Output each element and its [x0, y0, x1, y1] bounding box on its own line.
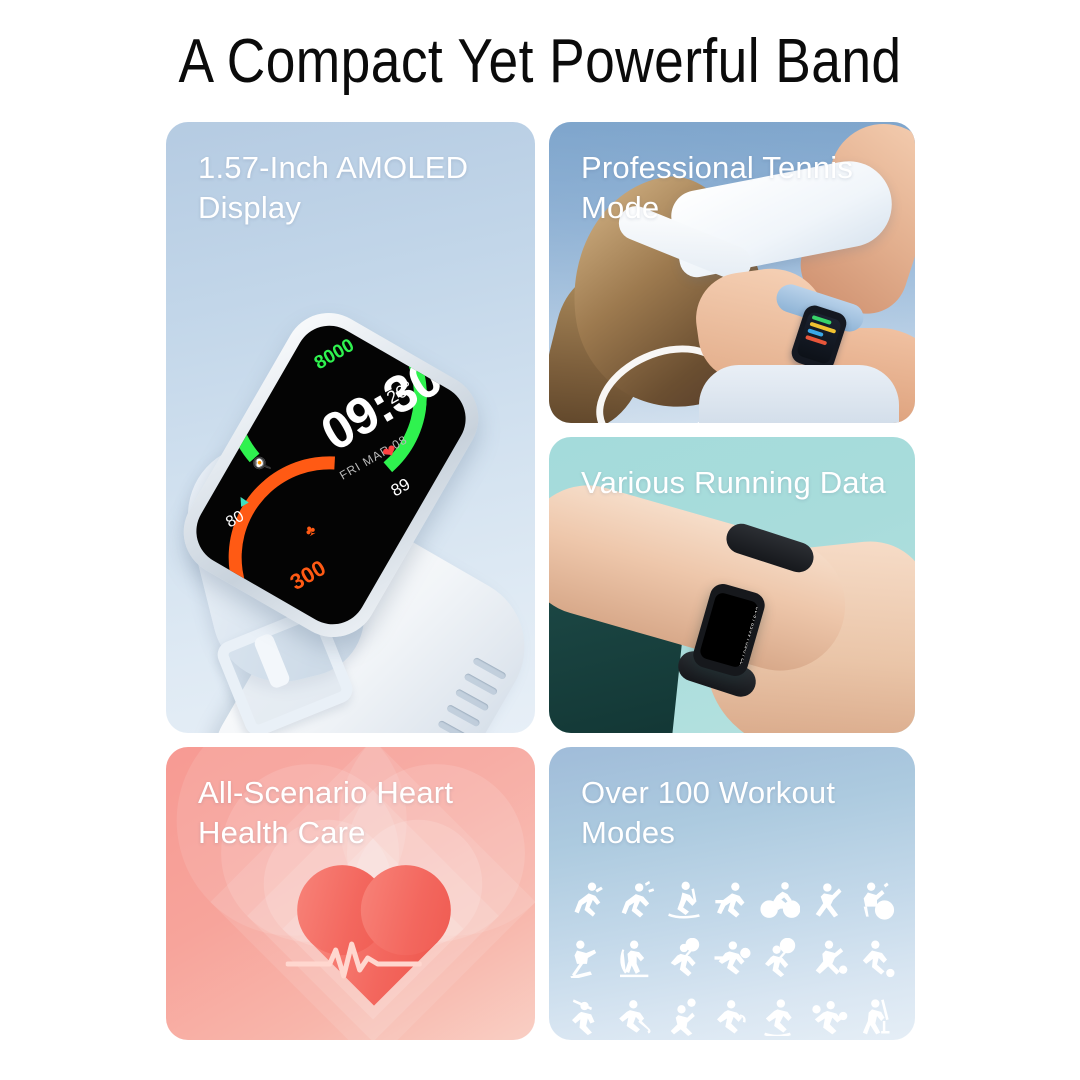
page-title: A Compact Yet Powerful Band [76, 26, 1005, 98]
skiing-icon [664, 880, 704, 920]
sprinting-icon [615, 880, 655, 920]
badminton-icon [664, 938, 704, 978]
rowing-icon [567, 938, 607, 978]
baseball-icon [712, 996, 752, 1036]
soccer-icon [809, 938, 849, 978]
card-label-heart-health: All-Scenario Heart Health Care [198, 773, 507, 853]
ecg-waveform-icon [285, 938, 421, 982]
card-amoled-display[interactable]: 8000 26° 09:30 FRI MAR 08 ❤ 89 ♣ 300 ▲ 8… [166, 122, 535, 733]
workout-icon-grid [563, 871, 901, 1040]
cycling-icon [760, 880, 800, 920]
card-heart-health[interactable]: All-Scenario Heart Health Care [166, 747, 535, 1040]
fishing-icon [857, 996, 897, 1036]
boxing-icon [809, 996, 849, 1036]
volleyball-icon [712, 938, 752, 978]
card-tennis-mode[interactable]: Professional Tennis Mode [549, 122, 915, 423]
walking-icon [712, 880, 752, 920]
card-label-running-data: Various Running Data [581, 463, 887, 503]
card-workout-modes[interactable]: Over 100 Workout Modes [549, 747, 915, 1040]
hockey-icon [615, 996, 655, 1036]
card-label-workout-modes: Over 100 Workout Modes [581, 773, 887, 853]
bowling-icon [857, 938, 897, 978]
tennis-icon [760, 938, 800, 978]
card-running-data[interactable]: 4:23 / 432 / 0:50 / 44:58 / 6:13 6.40 Va… [549, 437, 915, 733]
golf-icon [567, 996, 607, 1036]
tennis-band-screen [796, 311, 843, 365]
basketball-icon [664, 996, 704, 1036]
card-label-tennis-mode: Professional Tennis Mode [581, 148, 887, 228]
tennis-sport-top [699, 365, 899, 423]
card-label-amoled-display: 1.57-Inch AMOLED Display [198, 148, 507, 228]
wheelchair-tennis-icon [857, 880, 897, 920]
feature-card-grid: 8000 26° 09:30 FRI MAR 08 ❤ 89 ♣ 300 ▲ 8… [166, 122, 915, 1040]
jump-rope-icon [615, 938, 655, 978]
stretching-icon [809, 880, 849, 920]
skateboarding-icon [760, 996, 800, 1036]
running-icon [567, 880, 607, 920]
